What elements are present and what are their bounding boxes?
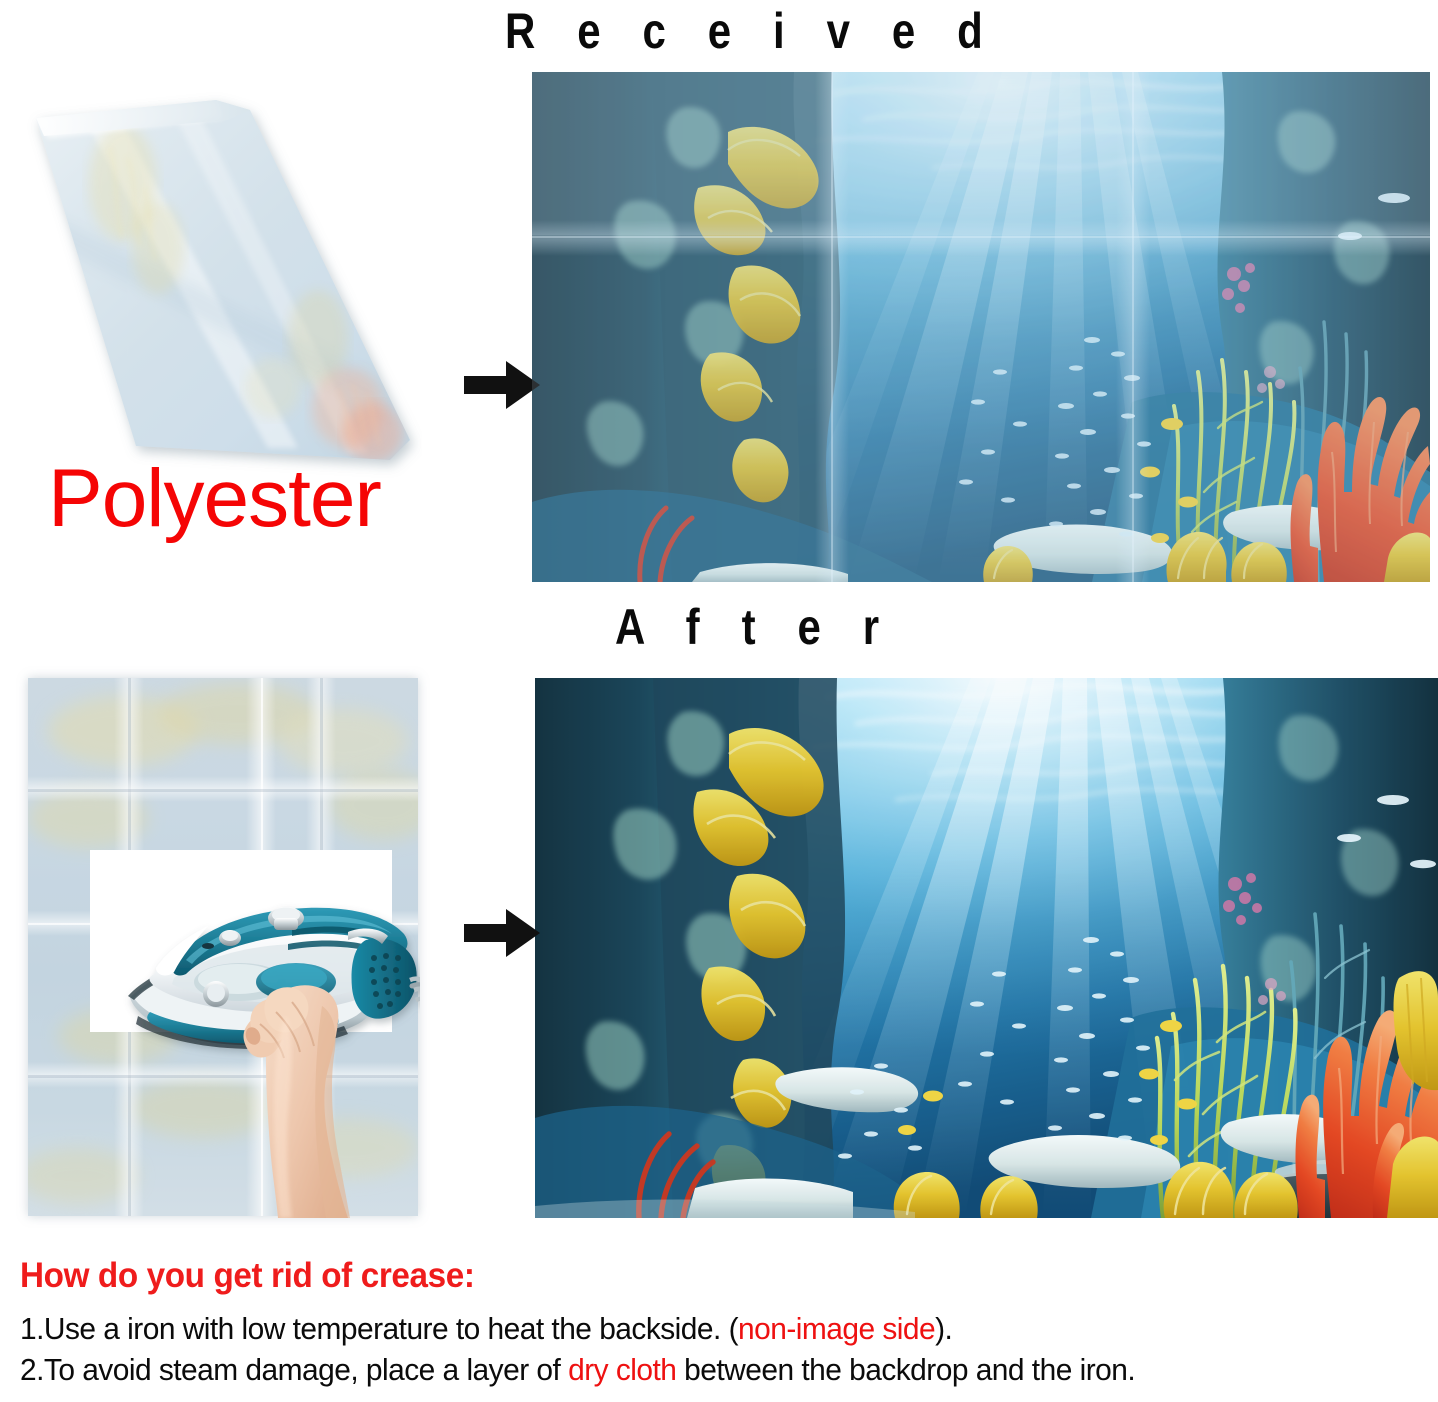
instructions-block: How do you get rid of crease: 1.Use a ir… [20,1258,1430,1391]
heading-after: A f t e r [615,598,894,656]
iron-inset-box [90,850,392,1032]
scene-received [532,72,1430,582]
instruction-1-highlight: non-image side [738,1311,935,1346]
instruction-1-part-a: 1.Use a iron with low temperature to hea… [20,1311,738,1346]
instruction-line-1: 1.Use a iron with low temperature to hea… [20,1309,1381,1350]
instruction-2-highlight: dry cloth [568,1352,676,1387]
polyester-label: Polyester [48,458,381,540]
instruction-line-2: 2.To avoid steam damage, place a layer o… [20,1350,1381,1391]
right-arrow-icon-2 [462,906,542,960]
folded-fabric-image [18,88,422,478]
right-arrow-icon [462,358,542,412]
infographic-canvas: R e c e i v e d [0,0,1438,1402]
instructions-title: How do you get rid of crease: [20,1258,1360,1295]
instruction-2-part-a: 2.To avoid steam damage, place a layer o… [20,1352,568,1387]
instruction-2-part-c: between the backdrop and the iron. [676,1352,1135,1387]
instruction-1-part-c: ). [935,1311,952,1346]
heading-received: R e c e i v e d [505,2,998,60]
scene-after [535,678,1438,1218]
